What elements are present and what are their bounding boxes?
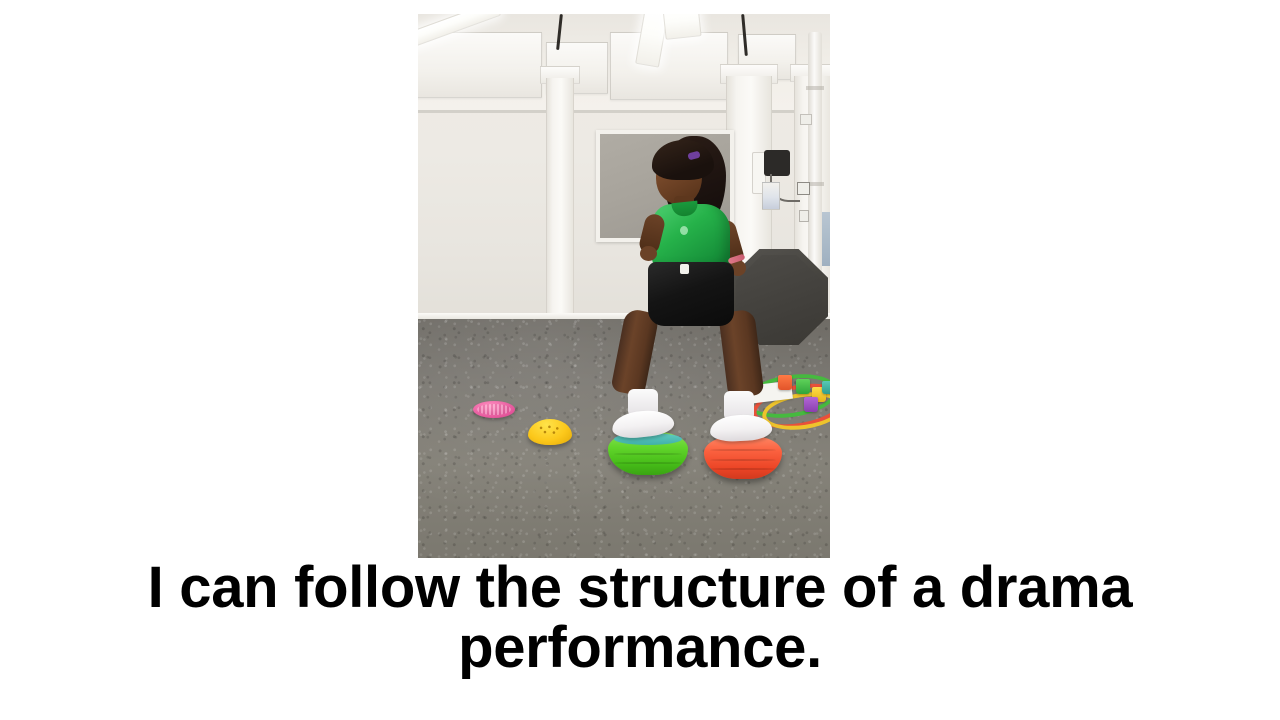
yellow-dome-stone (528, 419, 572, 445)
cup-green (796, 379, 810, 394)
cup-purple (804, 397, 818, 412)
ceiling-panel (418, 32, 542, 98)
slide: I can follow the structure of a drama pe… (0, 0, 1280, 720)
hair-top (652, 140, 714, 180)
stone-ridge (710, 468, 776, 470)
wall-socket-icon (797, 182, 810, 195)
wall-phone-icon (764, 150, 790, 176)
carpet-floor (418, 319, 830, 558)
hand-front (640, 246, 657, 261)
shirt-logo (680, 226, 688, 235)
pipe-band (806, 86, 824, 90)
cup-teal (822, 381, 830, 394)
wall-socket-icon (799, 210, 809, 222)
stone-ridge (710, 449, 776, 451)
stone-ridge (614, 453, 681, 455)
fluorescent-light-icon (662, 14, 701, 40)
photo-scene (418, 14, 830, 558)
pink-balance-disc (473, 401, 515, 418)
wall-socket-icon (800, 114, 812, 125)
lesson-photo (418, 14, 830, 558)
slide-caption: I can follow the structure of a drama pe… (80, 558, 1200, 679)
black-skirt (648, 262, 734, 326)
orange-stepping-stone (704, 435, 782, 479)
skirt-tag (680, 264, 689, 274)
stone-ridge (710, 459, 776, 461)
wall-column (546, 78, 574, 330)
stone-ridge (614, 462, 681, 464)
cup-orange (778, 375, 792, 390)
wall-blue-strip (822, 212, 830, 266)
green-stepping-stone (608, 431, 688, 475)
ceiling-panel (610, 32, 728, 100)
student-figure (636, 134, 766, 334)
